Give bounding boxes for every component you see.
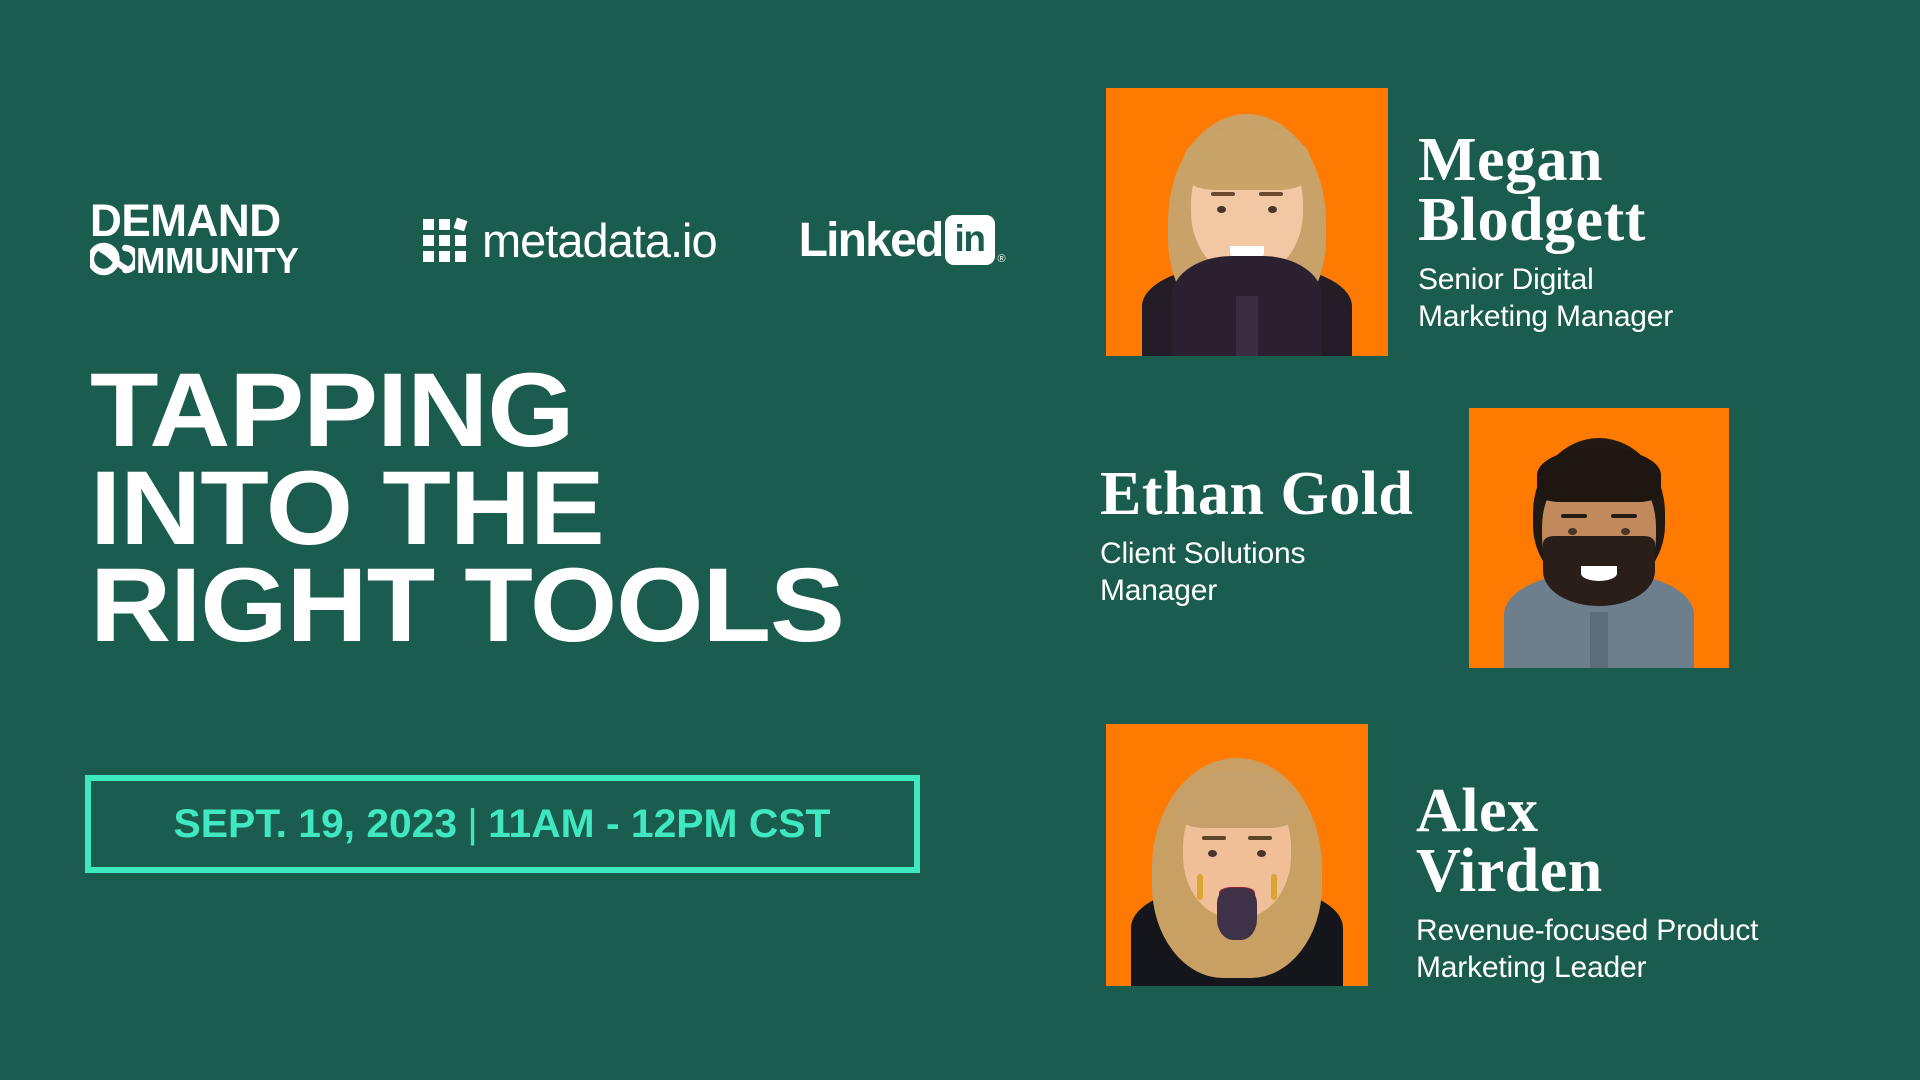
datetime-separator: |: [468, 802, 479, 847]
logo-row: DEMAND MMUNITY: [90, 190, 1006, 290]
speaker-info-ethan-gold: Ethan Gold Client Solutions Manager: [1100, 464, 1413, 609]
speaker-name: Alex Virden: [1416, 781, 1758, 901]
speaker-title-line-1: Senior Digital: [1418, 262, 1673, 299]
linkedin-logo: Linked in ®: [799, 213, 1006, 268]
speaker-card-alex-virden: Alex Virden Revenue-focused Product Mark…: [1106, 723, 1758, 986]
speaker-title: Client Solutions Manager: [1100, 536, 1413, 609]
speaker-name-line-1: Megan: [1418, 130, 1673, 190]
speaker-photo-ethan-gold: [1469, 408, 1729, 668]
speaker-name-line-1: Alex: [1416, 781, 1758, 841]
speaker-title: Senior Digital Marketing Manager: [1418, 262, 1673, 335]
demand-community-logo-line2-text: MMUNITY: [136, 244, 299, 279]
speaker-info-megan-blodgett: Megan Blodgett Senior Digital Marketing …: [1418, 130, 1673, 335]
speaker-name: Megan Blodgett: [1418, 130, 1673, 250]
speaker-title: Revenue-focused Product Marketing Leader: [1416, 913, 1758, 986]
speaker-card-megan-blodgett: Megan Blodgett Senior Digital Marketing …: [1106, 88, 1673, 356]
speaker-photo-alex-virden: [1106, 724, 1368, 986]
speaker-photo-megan-blodgett: [1106, 88, 1388, 356]
page-title: TAPPING INTO THE RIGHT TOOLS: [90, 362, 795, 655]
speaker-title-line-1: Client Solutions: [1100, 536, 1413, 573]
demand-community-logo-line1: DEMAND: [90, 199, 325, 242]
grid-squares-icon: [423, 219, 466, 262]
metadata-wordmark: metadata.io: [482, 213, 717, 268]
headline-line-2: INTO THE: [90, 460, 844, 558]
linkedin-wordmark: Linked: [799, 213, 943, 268]
headline-line-3: RIGHT TOOLS: [90, 557, 844, 655]
speaker-title-line-2: Manager: [1100, 573, 1413, 610]
speaker-info-alex-virden: Alex Virden Revenue-focused Product Mark…: [1416, 781, 1758, 986]
linkedin-in-badge-icon: in: [945, 215, 995, 265]
left-content-column: DEMAND MMUNITY: [90, 0, 990, 1080]
speaker-title-line-2: Marketing Manager: [1418, 299, 1673, 336]
event-datetime-banner: SEPT. 19, 2023|11AM - 12PM CST: [85, 775, 920, 873]
demand-community-logo: DEMAND MMUNITY: [90, 199, 330, 282]
speaker-card-ethan-gold: Ethan Gold Client Solutions Manager: [1100, 408, 1729, 668]
event-date: SEPT. 19, 2023: [174, 802, 458, 846]
metadata-logo: metadata.io: [423, 213, 717, 268]
event-datetime-text: SEPT. 19, 2023|11AM - 12PM CST: [174, 802, 831, 847]
registered-trademark-symbol: ®: [998, 253, 1006, 265]
event-time: 11AM - 12PM CST: [489, 802, 831, 846]
speaker-title-line-1: Revenue-focused Product: [1416, 913, 1758, 950]
headline-line-1: TAPPING: [90, 362, 844, 460]
speaker-name: Ethan Gold: [1100, 464, 1413, 524]
speaker-name-line-2: Blodgett: [1418, 190, 1673, 250]
demand-community-logo-line2: MMUNITY: [90, 242, 325, 282]
infinity-co-ligature-icon: [90, 242, 135, 282]
speaker-name-line-2: Virden: [1416, 841, 1758, 901]
speaker-title-line-2: Marketing Leader: [1416, 950, 1758, 987]
speaker-name-line-1: Ethan Gold: [1100, 464, 1413, 524]
poster-canvas: DEMAND MMUNITY: [0, 0, 1920, 1080]
